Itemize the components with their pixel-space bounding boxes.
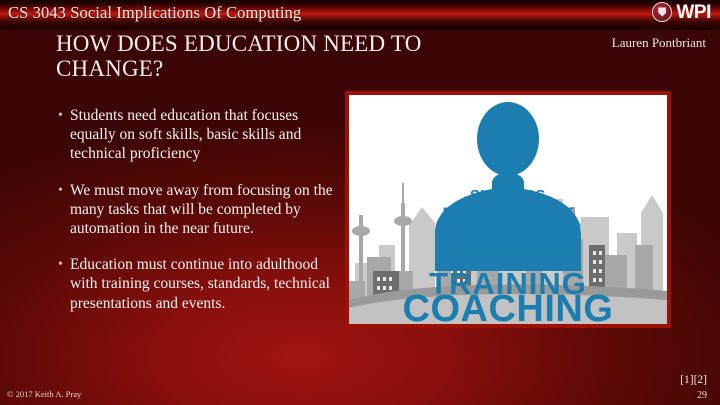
- list-item: • Education must continue into adulthood…: [58, 255, 343, 313]
- bullet-text: We must move away from focusing on the m…: [70, 181, 343, 239]
- copyright-notice: © 2017 Keith A. Pray: [7, 389, 81, 399]
- education-wordcloud-image: SUCCESS DEVELOPMENT KNOWLEDGE LEARNING T…: [345, 91, 671, 328]
- presentation-slide: CS 3043 Social Implications Of Computing…: [0, 0, 720, 405]
- page-number: 29: [697, 390, 707, 401]
- bullet-marker-icon: •: [58, 181, 70, 200]
- bullet-text: Education must continue into adulthood w…: [70, 255, 343, 313]
- word-coaching: COACHING: [403, 288, 614, 324]
- author-name: Lauren Pontbriant: [612, 35, 706, 51]
- slide-header-bar: CS 3043 Social Implications Of Computing…: [0, 0, 720, 29]
- word-knowledge: KNOWLEDGE: [445, 222, 572, 243]
- citation-references: [1][2]: [680, 374, 707, 386]
- word-development: DEVELOPMENT: [442, 205, 573, 223]
- wpi-logo-text: WPI: [676, 3, 711, 22]
- wpi-logo: WPI: [652, 2, 711, 22]
- bullet-text: Students need education that focuses equ…: [70, 106, 343, 164]
- bullet-marker-icon: •: [58, 106, 70, 125]
- wordcloud-illustration: SUCCESS DEVELOPMENT KNOWLEDGE LEARNING T…: [349, 95, 667, 324]
- list-item: • Students need education that focuses e…: [58, 106, 343, 164]
- bullet-marker-icon: •: [58, 255, 70, 274]
- slide-title: HOW DOES EDUCATION NEED TO CHANGE?: [56, 31, 516, 81]
- course-title: CS 3043 Social Implications Of Computing: [8, 3, 301, 23]
- list-item: • We must move away from focusing on the…: [58, 181, 343, 239]
- wpi-seal-icon: [652, 2, 672, 22]
- word-success: SUCCESS: [470, 187, 546, 204]
- bullet-list: • Students need education that focuses e…: [58, 106, 343, 330]
